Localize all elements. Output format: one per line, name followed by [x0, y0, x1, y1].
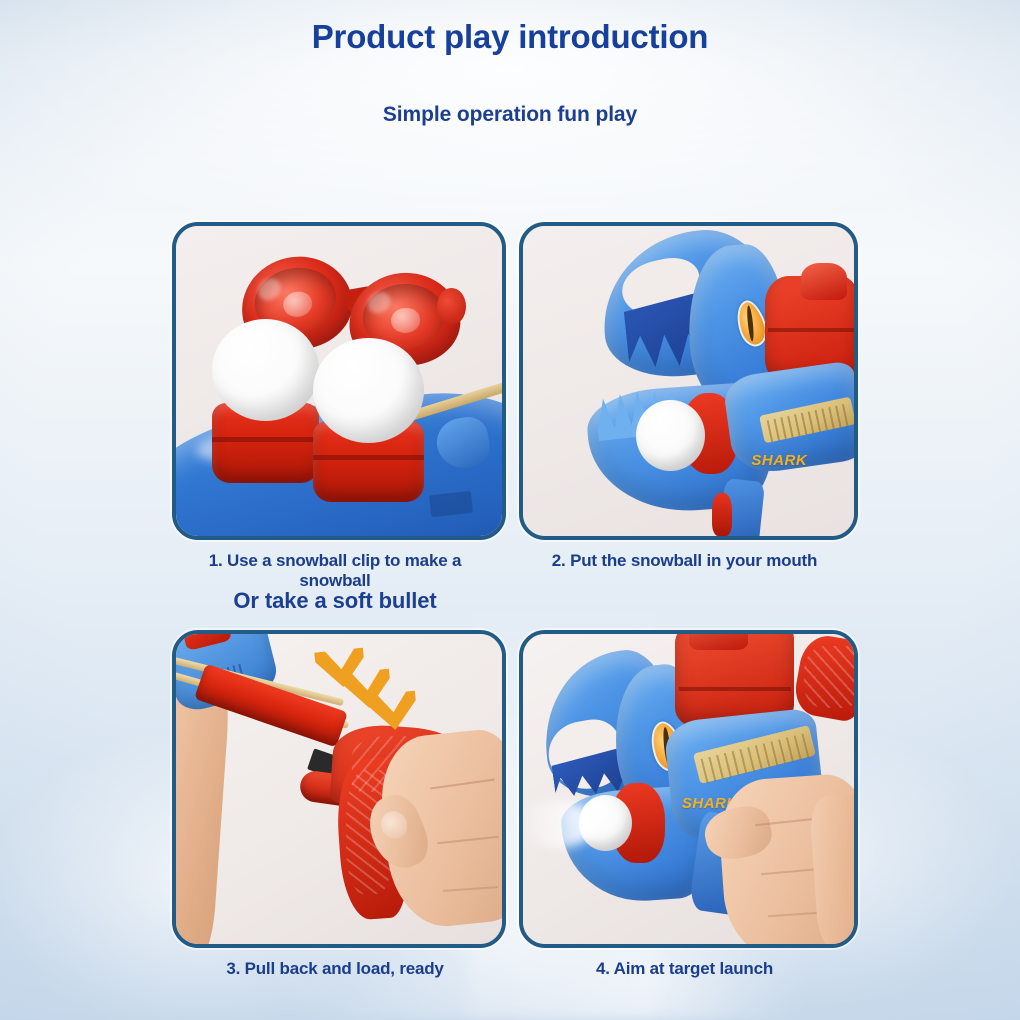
cup-seam	[212, 437, 320, 442]
infographic-page: Product play introduction Simple operati…	[0, 0, 1020, 1020]
step-2-image-panel: SHARK	[519, 222, 858, 540]
shark-brand-logo: SHARK	[751, 452, 807, 469]
step-3-photo	[176, 634, 502, 944]
red-magazine-seam	[679, 687, 792, 691]
step-3-caption: 3. Pull back and load, ready	[172, 959, 498, 979]
step-2-photo: SHARK	[523, 226, 854, 536]
blue-trigger-slot	[429, 490, 473, 516]
page-title: Product play introduction	[0, 18, 1020, 56]
step-1-caption: 1. Use a snowball clip to make a snowbal…	[172, 551, 498, 591]
background-vignette	[0, 0, 1020, 1020]
tail-fin-mesh	[804, 646, 854, 708]
red-magazine-cap	[801, 263, 847, 300]
step-1-image-panel	[172, 222, 506, 540]
snowball-left	[212, 319, 320, 421]
red-trigger	[712, 493, 732, 536]
step-4-photo: SHARK	[523, 634, 854, 944]
step-4-caption: 4. Aim at target launch	[519, 959, 850, 979]
step-1-photo	[176, 226, 502, 536]
step-4-image-panel: SHARK	[519, 630, 858, 948]
step-3-image-panel	[172, 630, 506, 948]
snowball-right	[313, 338, 424, 443]
red-magazine-seam	[768, 328, 854, 332]
section-heading-soft-bullet: Or take a soft bullet	[172, 588, 498, 614]
snowball-in-mouth	[636, 400, 706, 471]
page-subtitle: Simple operation fun play	[0, 103, 1020, 127]
cup-seam	[313, 455, 424, 460]
step-2-caption: 2. Put the snowball in your mouth	[519, 551, 850, 571]
clip-side-tab	[437, 288, 466, 325]
red-magazine-cap	[689, 634, 749, 650]
shark-pupil	[747, 306, 756, 343]
